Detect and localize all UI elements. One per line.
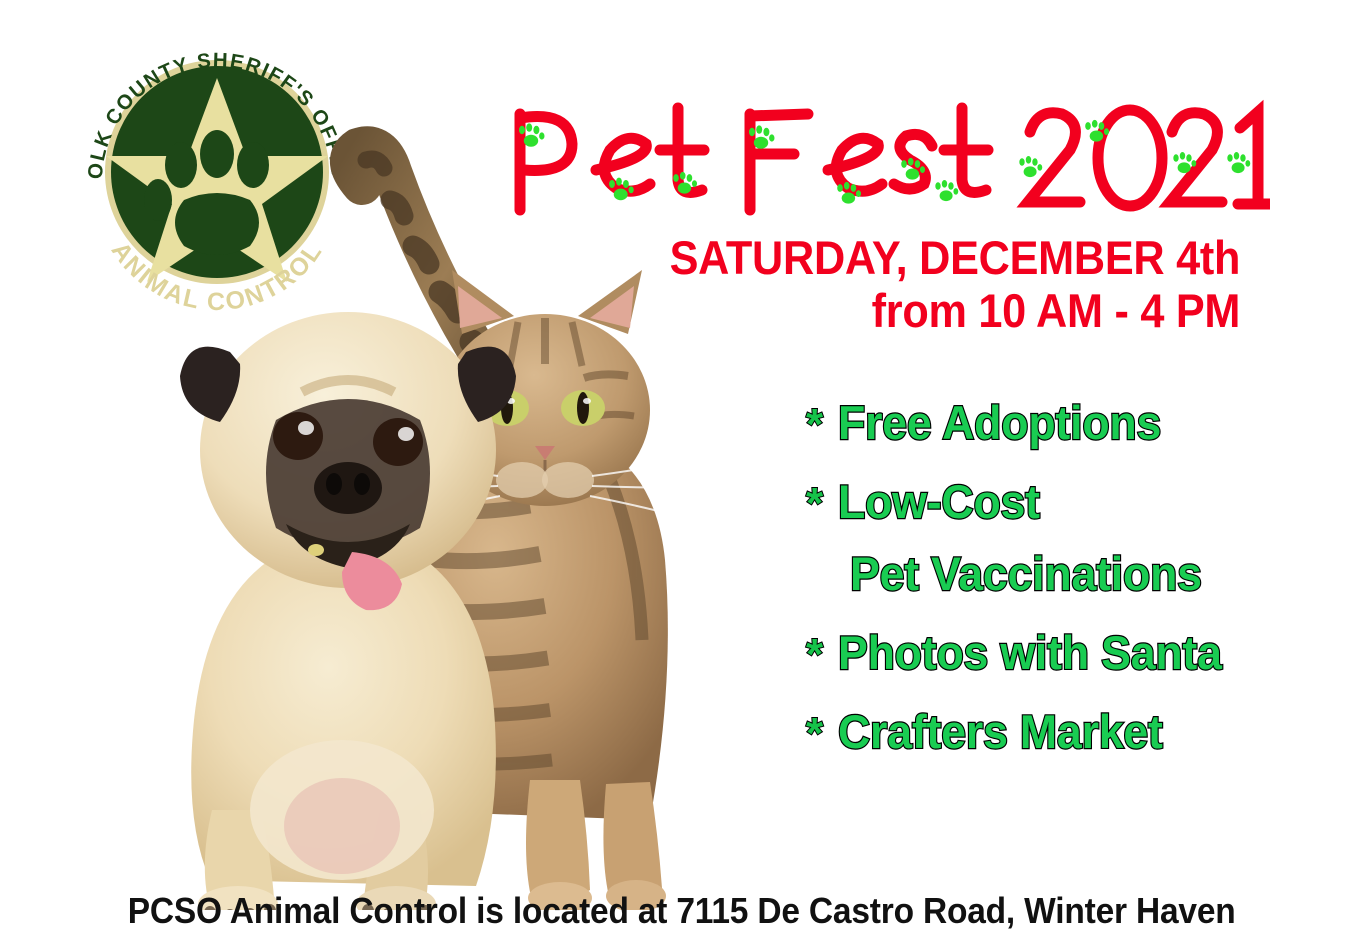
cat-muzzle-left	[496, 462, 548, 498]
location-footer: PCSO Animal Control is located at 7115 D…	[0, 890, 1364, 932]
asterisk-bullet-icon: *	[806, 403, 823, 447]
list-item: * Photos with Santa	[806, 628, 1326, 677]
list-item: * Free Adoptions	[806, 398, 1326, 447]
list-item: * Low-Cost	[806, 477, 1326, 526]
feature-label: Photos with Santa	[838, 628, 1222, 677]
event-datetime: SATURDAY, DECEMBER 4th from 10 AM - 4 PM	[620, 234, 1240, 334]
location-text: PCSO Animal Control is located at 7115 D…	[128, 890, 1236, 932]
asterisk-bullet-icon: *	[806, 482, 823, 526]
asterisk-bullet-icon: *	[806, 633, 823, 677]
cat-front-leg-left	[526, 780, 590, 898]
list-item-continuation: Pet Vaccinations	[850, 549, 1326, 598]
pug-eye-right	[373, 418, 423, 466]
pug-tooth	[308, 544, 324, 556]
title-letterforms	[520, 108, 1270, 210]
event-date: SATURDAY, DECEMBER 4th	[669, 234, 1240, 281]
pug-belly-pink	[284, 778, 400, 874]
feature-label: Free Adoptions	[838, 398, 1161, 447]
pet-fest-flyer: POLK COUNTY SHERIFF'S OFFICE ANIMAL CONT…	[0, 0, 1364, 950]
feature-label: Pet Vaccinations	[850, 549, 1202, 598]
cat-muzzle-right	[542, 462, 594, 498]
pug-eye-left	[273, 412, 323, 460]
feature-label: Crafters Market	[838, 707, 1163, 756]
feature-label: Low-Cost	[838, 477, 1040, 526]
asterisk-bullet-icon: *	[806, 712, 823, 756]
event-title	[500, 92, 1270, 232]
event-time: from 10 AM - 4 PM	[669, 287, 1240, 334]
feature-list: * Free Adoptions * Low-Cost Pet Vaccinat…	[806, 398, 1326, 787]
pug-nose	[314, 462, 382, 514]
list-item: * Crafters Market	[806, 707, 1326, 756]
